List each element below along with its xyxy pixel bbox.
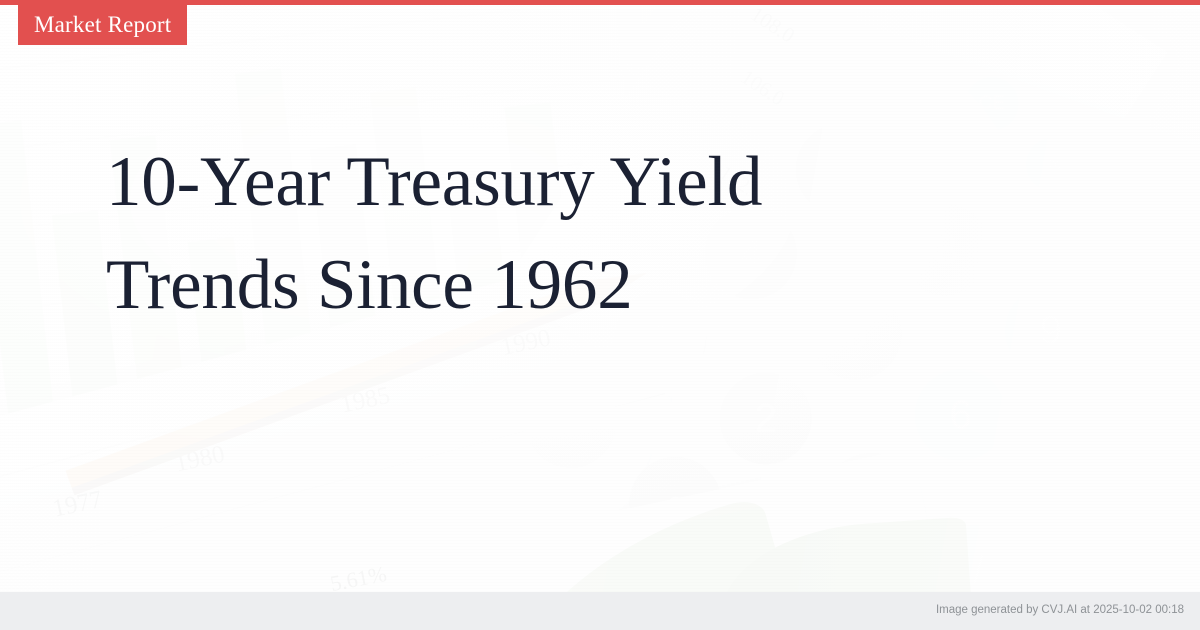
page-title-line-2: Trends Since 1962: [106, 234, 966, 337]
footer-credit: Image generated by CVJ.AI at 2025-10-02 …: [936, 604, 1184, 616]
page-title-line-1: 10-Year Treasury Yield: [106, 131, 966, 234]
market-report-banner: 1977 1980 1985 1990 1995 108.0 106.0 102…: [0, 0, 1200, 630]
badge-label: Market Report: [34, 12, 171, 38]
page-title: 10-Year Treasury Yield Trends Since 1962: [106, 131, 966, 337]
market-report-badge: Market Report: [18, 5, 187, 45]
